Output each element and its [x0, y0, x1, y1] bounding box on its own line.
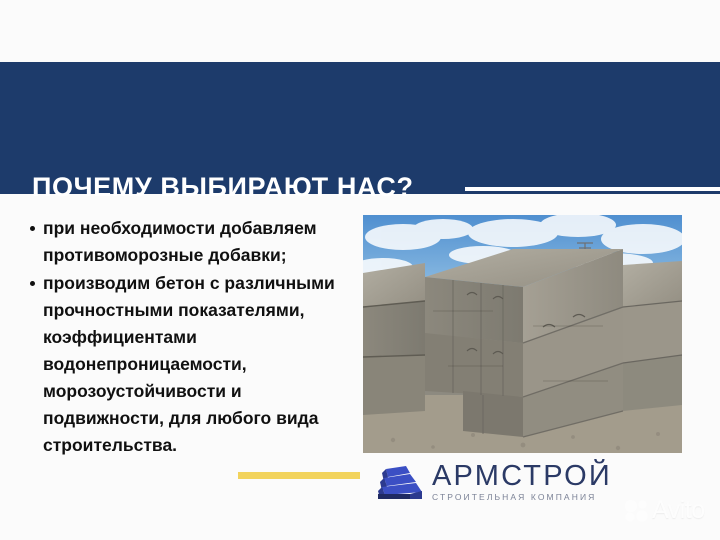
- logo-text-block: АРМСТРОЙ СТРОИТЕЛЬНАЯ КОМПАНИЯ: [432, 461, 612, 503]
- concrete-blocks-photo: [363, 215, 682, 453]
- title-rule-icon: [465, 187, 720, 191]
- header-band: ПОЧЕМУ ВЫБИРАЮТ НАС?: [0, 62, 720, 194]
- slide: ПОЧЕМУ ВЫБИРАЮТ НАС? при необходимости д…: [0, 0, 720, 540]
- photo-illustration: [363, 215, 682, 453]
- logo-company-subtitle: СТРОИТЕЛЬНАЯ КОМПАНИЯ: [432, 492, 612, 503]
- accent-bar: [238, 472, 360, 479]
- avito-watermark: Avito: [624, 498, 705, 523]
- logo-company-name: АРМСТРОЙ: [432, 461, 612, 491]
- page-title: ПОЧЕМУ ВЫБИРАЮТ НАС?: [32, 172, 414, 203]
- company-logo: АРМСТРОЙ СТРОИТЕЛЬНАЯ КОМПАНИЯ: [376, 461, 612, 503]
- benefits-list: при необходимости добавляем противомороз…: [26, 215, 356, 460]
- avito-dots-icon: [624, 498, 649, 523]
- building-icon: [376, 464, 423, 501]
- list-item: производим бетон с различными прочностны…: [26, 270, 356, 459]
- list-item: при необходимости добавляем противомороз…: [26, 215, 356, 269]
- avito-wordmark: Avito: [652, 498, 705, 523]
